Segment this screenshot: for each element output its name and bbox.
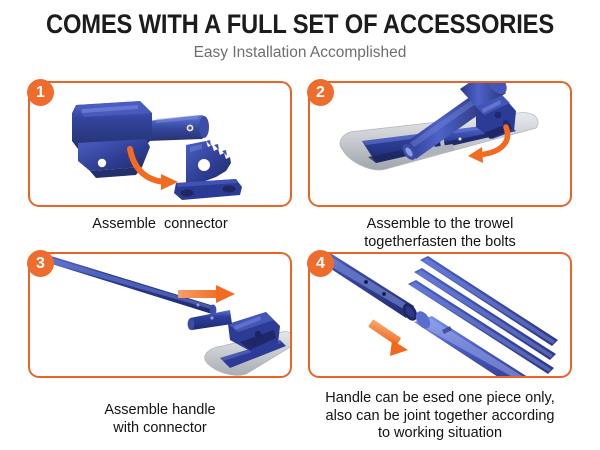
step-caption-4: Handle can be esed one piece only, also … bbox=[298, 390, 582, 443]
connector-assembly-illustration bbox=[30, 83, 290, 205]
steps-grid: 1 Assemble connector bbox=[0, 81, 600, 450]
serrated-bracket bbox=[174, 140, 242, 200]
step-panel-2: 2 bbox=[308, 81, 572, 207]
step-card-4: 4 Handle can be esed one piece only, als… bbox=[298, 252, 582, 443]
step-caption-1: Assemble connector bbox=[18, 216, 302, 234]
step-caption-2: Assemble to the trowel togetherfasten th… bbox=[298, 216, 582, 251]
page-subtitle: Easy Installation Accomplished bbox=[0, 43, 600, 63]
step-number-badge-1: 1 bbox=[27, 79, 54, 106]
step-card-1: 1 Assemble connector bbox=[18, 81, 302, 234]
pole-sections-illustration bbox=[310, 254, 570, 376]
step-panel-3: 3 bbox=[28, 252, 292, 378]
trowel-assembly-illustration bbox=[310, 83, 570, 205]
step-caption-3: Assemble handle with connector bbox=[18, 402, 302, 437]
step-card-2: 2 Assemble to the trowel togetherfasten … bbox=[298, 81, 582, 251]
step-card-3: 3 Assemble handle with connector bbox=[18, 252, 302, 437]
header: COMES WITH A FULL SET OF ACCESSORIES Eas… bbox=[0, 0, 600, 63]
page-title: COMES WITH A FULL SET OF ACCESSORIES bbox=[36, 9, 564, 39]
step-illustration-3 bbox=[30, 254, 290, 376]
step-panel-1: 1 bbox=[28, 81, 292, 207]
step-illustration-1 bbox=[30, 83, 290, 205]
connector-on-trowel bbox=[188, 310, 290, 375]
step-panel-4: 4 bbox=[308, 252, 572, 378]
step-number-badge-3: 3 bbox=[27, 250, 54, 277]
step-number-badge-2: 2 bbox=[307, 79, 334, 106]
step-illustration-2 bbox=[310, 83, 570, 205]
handle-pole bbox=[30, 254, 216, 316]
handle-connector-illustration bbox=[30, 254, 290, 376]
straight-arrow-icon bbox=[368, 319, 408, 356]
step-illustration-4 bbox=[310, 254, 570, 376]
step-number-badge-4: 4 bbox=[307, 250, 334, 277]
